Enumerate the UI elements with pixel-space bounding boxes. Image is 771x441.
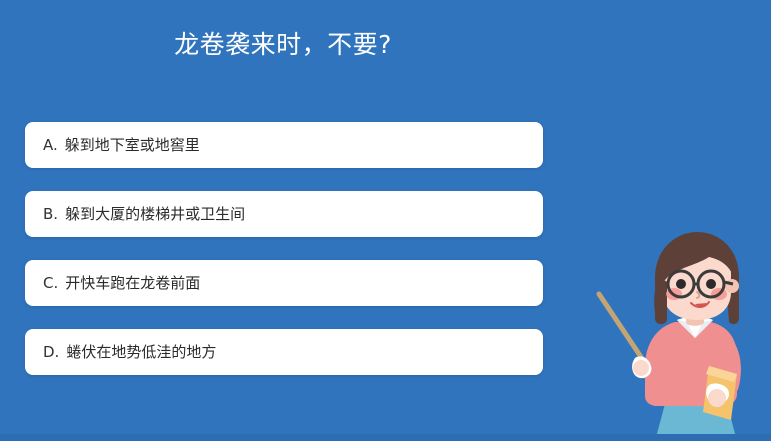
option-a-label: 躲到地下室或地窖里 xyxy=(65,135,200,155)
option-d[interactable]: D. 蜷伏在地势低洼的地方 xyxy=(25,329,543,375)
option-d-label: 蜷伏在地势低洼的地方 xyxy=(66,342,216,362)
bottom-band xyxy=(0,434,771,441)
teacher-illustration-icon xyxy=(591,226,771,441)
option-c-letter: C. xyxy=(43,273,58,293)
option-d-letter: D. xyxy=(43,342,59,362)
page-title: 龙卷袭来时，不要? xyxy=(0,28,566,62)
option-b[interactable]: B. 躲到大厦的楼梯井或卫生间 xyxy=(25,191,543,237)
option-c-label: 开快车跑在龙卷前面 xyxy=(65,273,200,293)
option-b-letter: B. xyxy=(43,204,58,224)
option-a[interactable]: A. 躲到地下室或地窖里 xyxy=(25,122,543,168)
option-a-letter: A. xyxy=(43,135,58,155)
quiz-screen: 龙卷袭来时，不要? A. 躲到地下室或地窖里 B. 躲到大厦的楼梯井或卫生间 C… xyxy=(0,0,771,441)
options-list: A. 躲到地下室或地窖里 B. 躲到大厦的楼梯井或卫生间 C. 开快车跑在龙卷前… xyxy=(25,122,543,375)
option-c[interactable]: C. 开快车跑在龙卷前面 xyxy=(25,260,543,306)
option-b-label: 躲到大厦的楼梯井或卫生间 xyxy=(65,204,245,224)
